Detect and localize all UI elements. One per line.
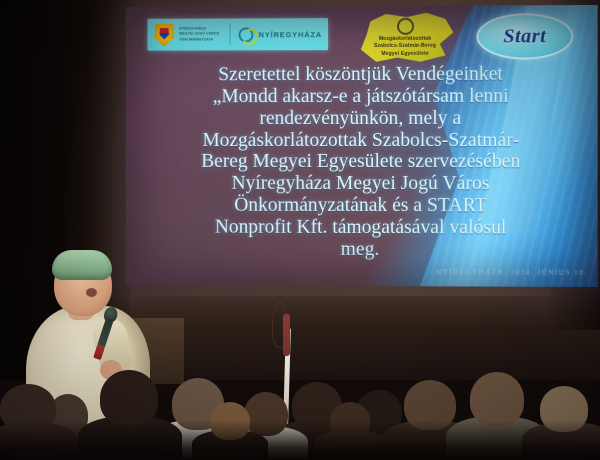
association-logo-text: Mozgáskorlátozottak Szabolcs-Szatmár-Ber…: [357, 36, 453, 58]
slide-text-line: meg.: [132, 238, 592, 261]
city-logo-text: NYÍREGYHÁZA MEGYEI JOGÚ VÁROS ÖNKORMÁNYZ…: [179, 26, 219, 43]
start-logo-label: Start: [503, 25, 546, 48]
nyiregyhaza-ring-icon: [239, 27, 254, 42]
slide-text-line: „Mondd akarsz-e a játszótársam lenni: [132, 85, 592, 108]
slide-logo-bar: NYÍREGYHÁZA MEGYEI JOGÚ VÁROS ÖNKORMÁNYZ…: [147, 18, 328, 51]
audience-silhouettes: [0, 330, 600, 460]
slide-text-line: Mozgáskorlátozottak Szabolcs-Szatmár-: [132, 129, 592, 151]
audience-foreground-shadow: [0, 420, 600, 460]
audience-head: [470, 372, 524, 426]
slide-text-line: Szeretettel köszöntjük Vendégeinket: [132, 63, 592, 86]
association-map-logo: Mozgáskorlátozottak Szabolcs-Szatmár-Ber…: [357, 12, 453, 64]
speaker-mouth: [86, 288, 97, 297]
slide-text-line: Nonprofit Kft. támogatásával valósul: [132, 216, 592, 239]
conference-photo-scene: NYÍREGYHÁZA MEGYEI JOGÚ VÁROS ÖNKORMÁNYZ…: [0, 0, 600, 460]
slide-text-line: Nyíregyháza Megyei Jogú Város: [132, 173, 592, 195]
start-logo: Start: [476, 13, 573, 60]
coat-of-arms-icon: [153, 23, 175, 47]
wheelchair-icon: [397, 18, 414, 35]
audience-head: [100, 370, 158, 426]
slide-text-line: Bereg Megyei Egyesülete szervezésében: [132, 151, 592, 173]
slide-text-line: rendezvényünkön, mely a: [132, 107, 592, 129]
association-logo-line-3: Megyei Egyesülete: [357, 50, 453, 58]
slide-text-line: Önkormányzatának és a START: [132, 195, 592, 218]
speaker-headband: [52, 250, 112, 280]
slide-datestamp: NYÍREGYHÁZA, 2024. JÚNIUS 18.: [436, 268, 587, 277]
projection-screen: NYÍREGYHÁZA MEGYEI JOGÚ VÁROS ÖNKORMÁNYZ…: [126, 5, 598, 287]
start-logo-oval: Start: [476, 13, 573, 60]
nyiregyhaza-logo-text: NYÍREGYHÁZA: [259, 30, 322, 39]
slide-body-text: Szeretettel köszöntjük Vendégeinket„Mond…: [132, 63, 592, 261]
